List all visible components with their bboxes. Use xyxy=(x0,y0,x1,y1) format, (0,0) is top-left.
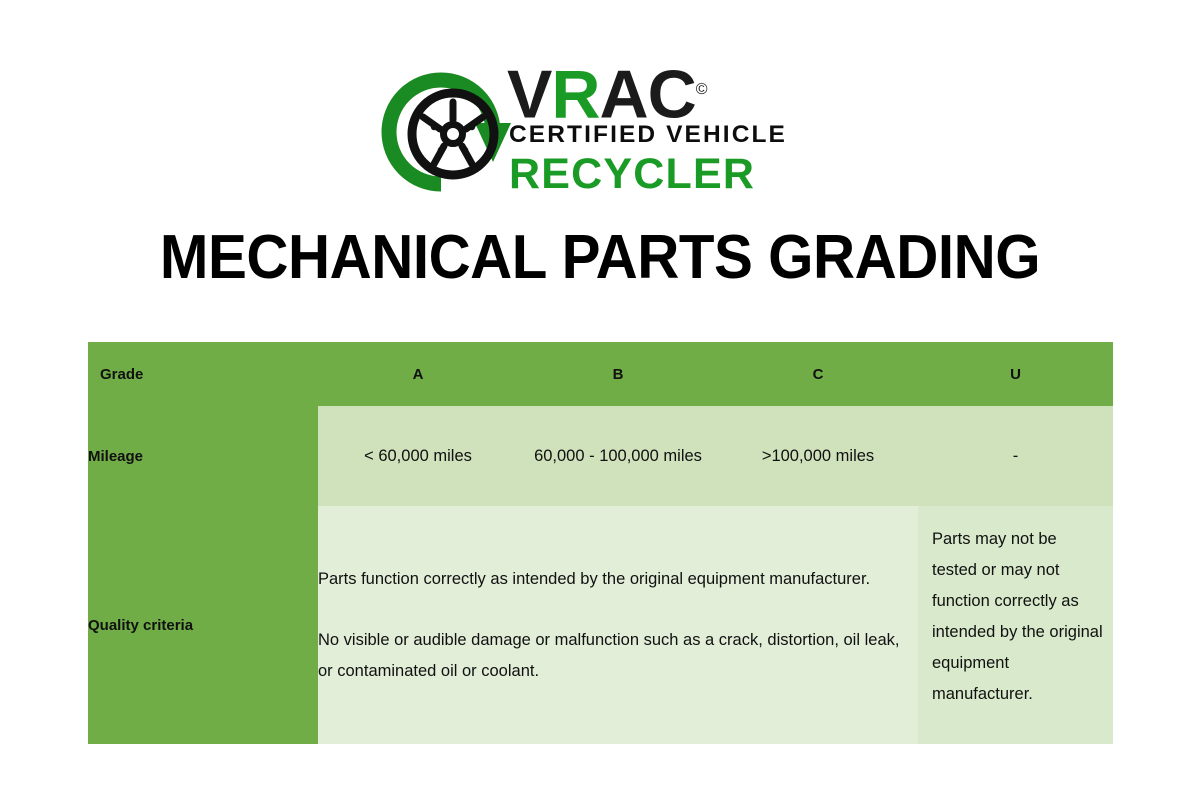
mechanical-parts-grading-table: Grade A B C U Mileage < 60,000 miles 60,… xyxy=(88,342,1113,744)
cell-quality-abc: Parts function correctly as intended by … xyxy=(318,506,918,744)
header-grade: Grade xyxy=(88,342,318,406)
header-grade-u: U xyxy=(918,342,1113,406)
page-title: MECHANICAL PARTS GRADING xyxy=(36,222,1164,293)
header-grade-a: A xyxy=(318,342,518,406)
cell-mileage-a: < 60,000 miles xyxy=(318,406,518,506)
vrac-logo: VRAC© CERTIFIED VEHICLE RECYCLER xyxy=(375,58,835,203)
table-row-quality-criteria: Quality criteria Parts function correctl… xyxy=(88,506,1113,744)
cell-quality-u: Parts may not be tested or may not funct… xyxy=(918,506,1113,744)
cell-mileage-c: >100,000 miles xyxy=(718,406,918,506)
cell-mileage-b: 60,000 - 100,000 miles xyxy=(518,406,718,506)
logo-recycler-text: RECYCLER xyxy=(509,150,755,198)
header-grade-b: B xyxy=(518,342,718,406)
row-label-mileage: Mileage xyxy=(88,406,318,506)
recycle-arrow-wheel-icon xyxy=(375,60,515,200)
table-row-mileage: Mileage < 60,000 miles 60,000 - 100,000 … xyxy=(88,406,1113,506)
quality-paragraph-1: Parts function correctly as intended by … xyxy=(318,564,918,595)
header-grade-c: C xyxy=(718,342,918,406)
logo-wordmark: VRAC© CERTIFIED VEHICLE RECYCLER xyxy=(507,58,837,203)
quality-paragraph-2: No visible or audible damage or malfunct… xyxy=(318,625,918,687)
table-header-row: Grade A B C U xyxy=(88,342,1113,406)
copyright-icon: © xyxy=(696,81,708,98)
logo-vrac-text: VRAC© xyxy=(507,54,707,131)
row-label-quality-criteria: Quality criteria xyxy=(88,506,318,744)
cell-mileage-u: - xyxy=(918,406,1113,506)
logo-tagline: CERTIFIED VEHICLE xyxy=(509,121,787,149)
